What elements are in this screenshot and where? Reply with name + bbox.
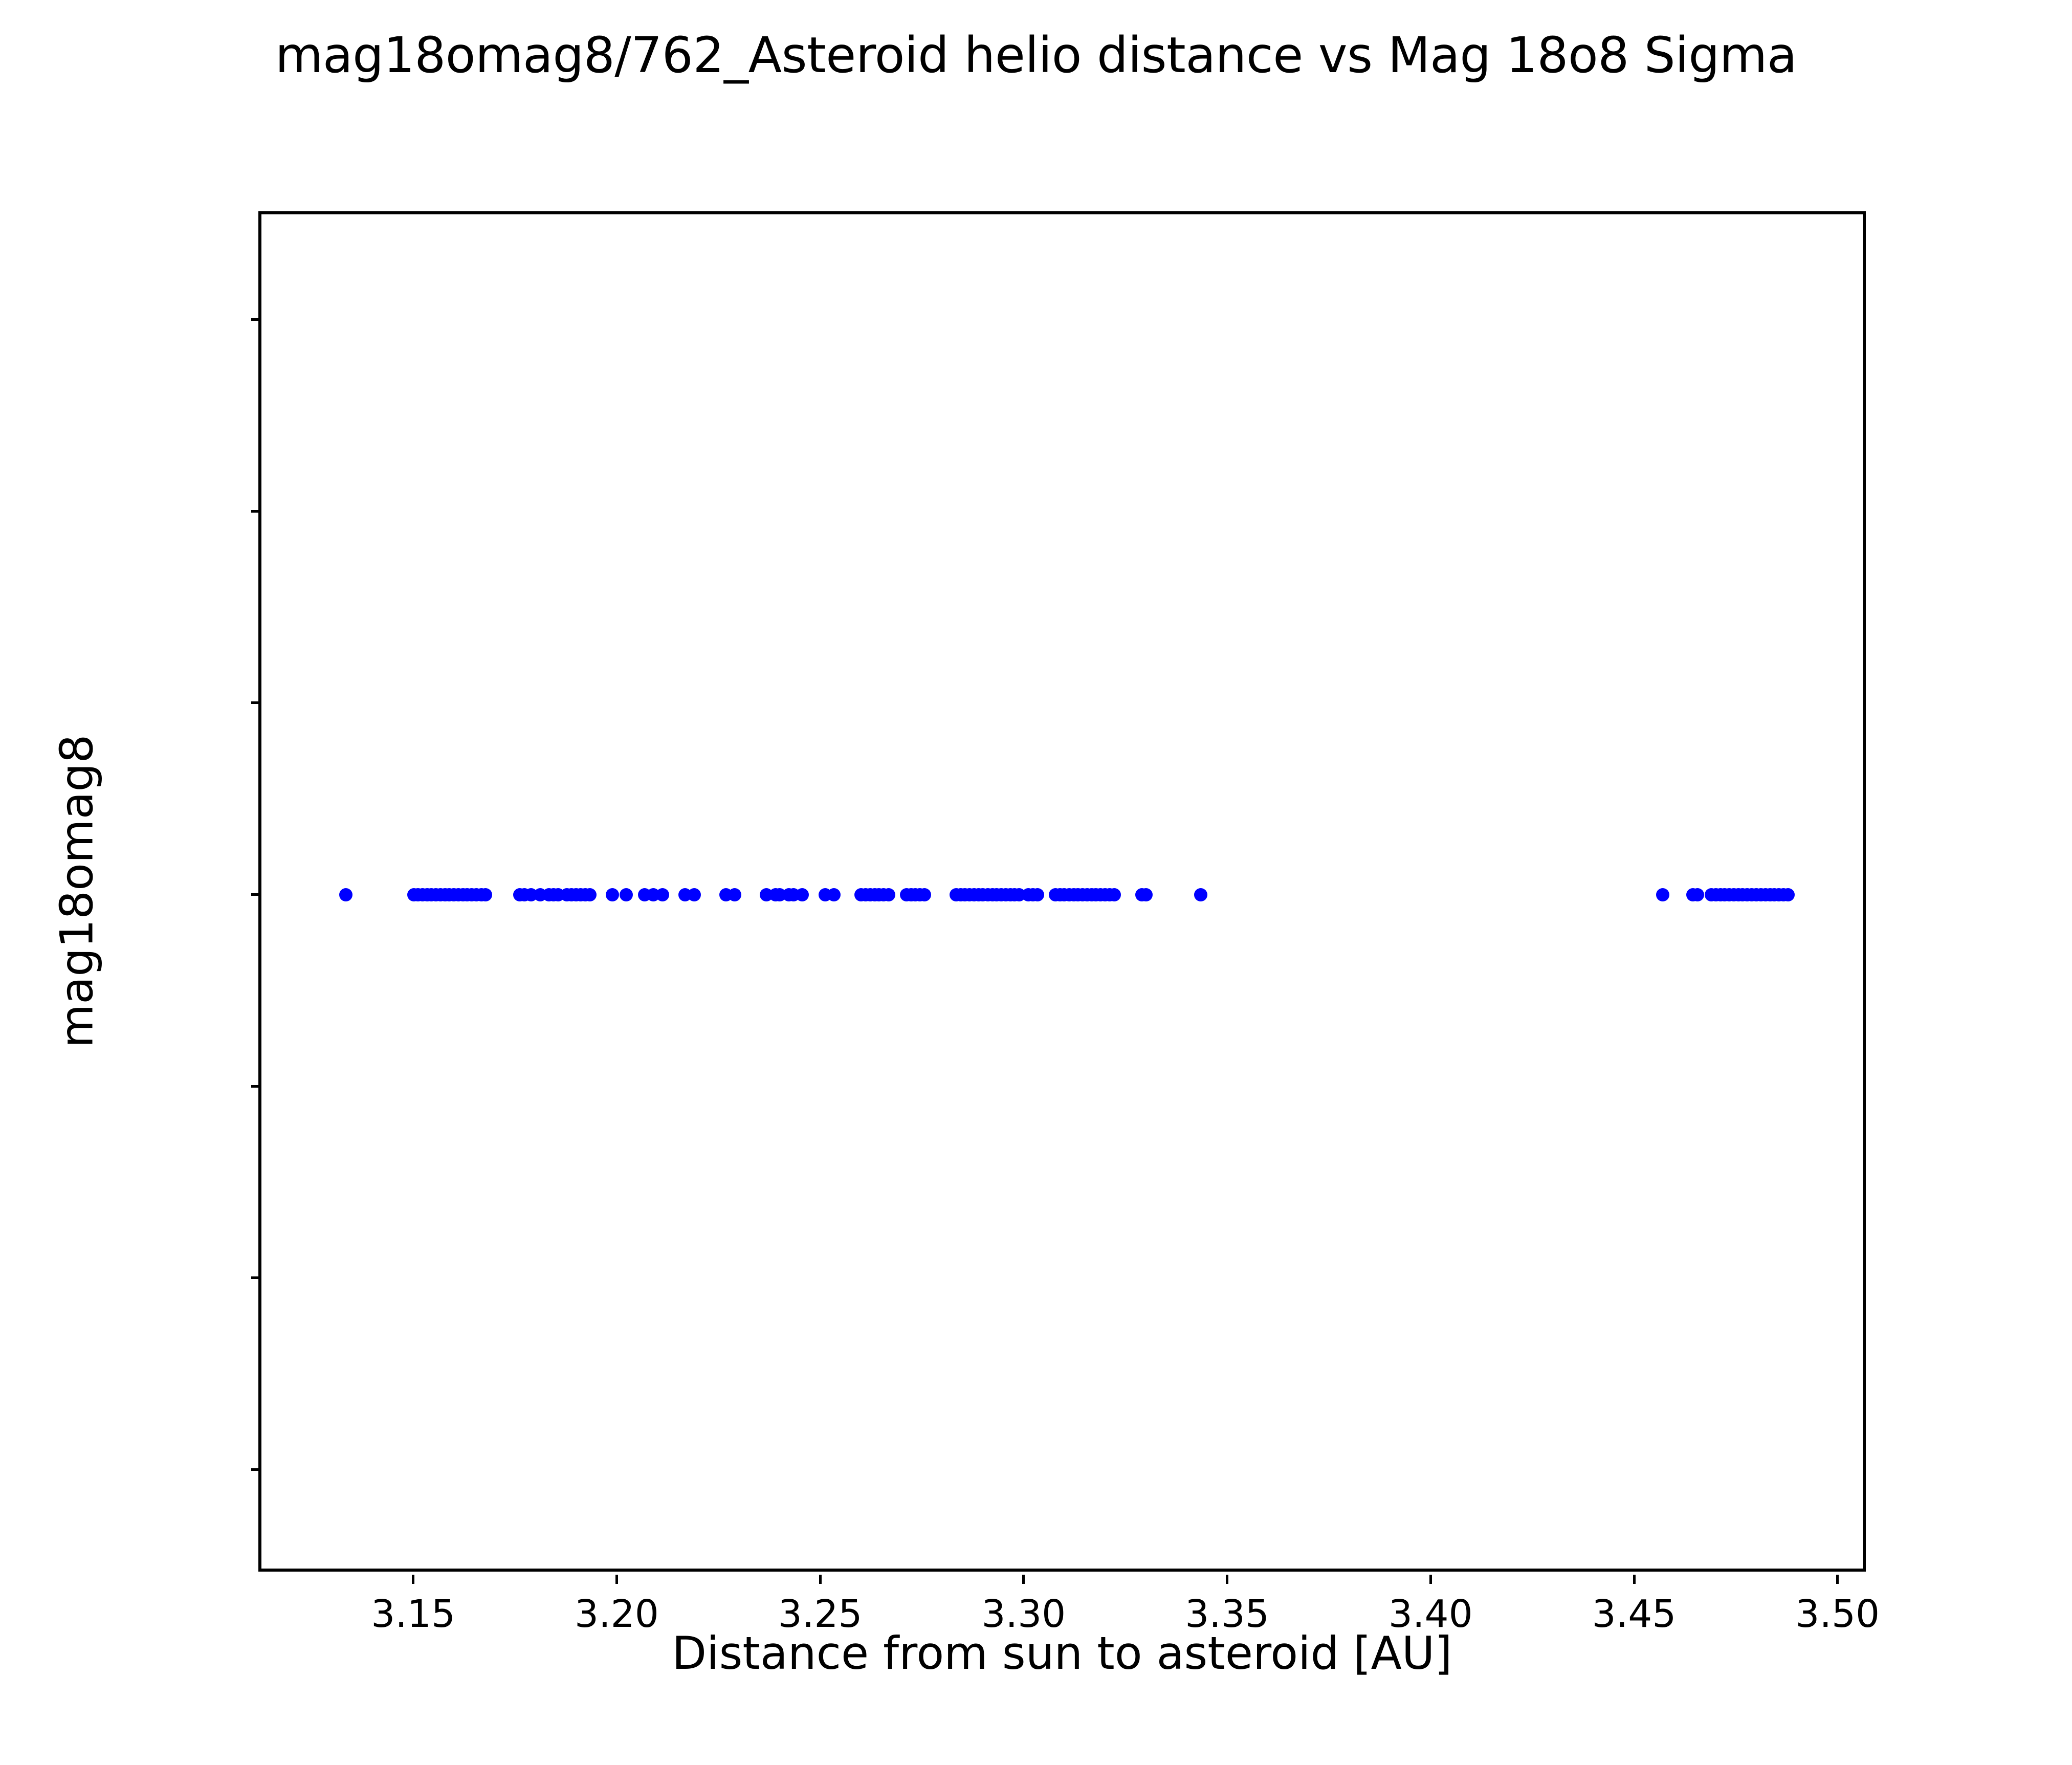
scatter-point bbox=[827, 888, 841, 901]
x-tick-mark bbox=[615, 1575, 618, 1584]
x-tick-mark bbox=[1633, 1575, 1636, 1584]
chart-title: mag18omag8/762_Asteroid helio distance v… bbox=[0, 27, 2072, 84]
scatter-point bbox=[1139, 888, 1153, 901]
x-tick-label: 3.30 bbox=[921, 1592, 1126, 1636]
y-tick-mark bbox=[251, 701, 260, 704]
x-tick-label: 3.15 bbox=[311, 1592, 516, 1636]
scatter-point bbox=[918, 888, 931, 901]
scatter-point bbox=[479, 888, 492, 901]
plot-area: 1.2971.2981.2991.3001.3011.3021.303 3.15… bbox=[258, 211, 1866, 1572]
scatter-point bbox=[796, 888, 809, 901]
scatter-point bbox=[339, 888, 352, 901]
x-tick-mark bbox=[1836, 1575, 1839, 1584]
x-tick-mark bbox=[819, 1575, 822, 1584]
scatter-point bbox=[620, 888, 633, 901]
x-tick-mark bbox=[1226, 1575, 1228, 1584]
scatter-point bbox=[1108, 888, 1121, 901]
y-tick-mark bbox=[251, 893, 260, 896]
scatter-point bbox=[606, 888, 619, 901]
x-tick-label: 3.45 bbox=[1532, 1592, 1736, 1636]
x-tick-mark bbox=[412, 1575, 414, 1584]
y-tick-mark bbox=[251, 510, 260, 513]
scatter-point bbox=[583, 888, 597, 901]
scatter-point bbox=[1194, 888, 1207, 901]
scatter-point bbox=[656, 888, 669, 901]
scatter-point bbox=[882, 888, 895, 901]
scatter-point bbox=[1031, 888, 1044, 901]
y-tick-mark bbox=[251, 1276, 260, 1279]
x-tick-label: 3.20 bbox=[514, 1592, 719, 1636]
scatter-point bbox=[1781, 888, 1795, 901]
x-tick-label: 3.25 bbox=[718, 1592, 922, 1636]
y-axis-label: mag18omag8 bbox=[51, 735, 103, 1048]
x-tick-mark bbox=[1022, 1575, 1025, 1584]
x-tick-mark bbox=[1429, 1575, 1432, 1584]
y-tick-mark bbox=[251, 1085, 260, 1088]
x-tick-label: 3.35 bbox=[1125, 1592, 1330, 1636]
scatter-point bbox=[1691, 888, 1704, 901]
scatter-point bbox=[728, 888, 741, 901]
figure-canvas: mag18omag8/762_Asteroid helio distance v… bbox=[0, 0, 2072, 1765]
x-tick-label: 3.40 bbox=[1328, 1592, 1533, 1636]
scatter-point bbox=[1656, 888, 1669, 901]
y-tick-mark bbox=[251, 318, 260, 321]
x-tick-label: 3.50 bbox=[1735, 1592, 1940, 1636]
scatter-series bbox=[261, 214, 1863, 1569]
scatter-point bbox=[688, 888, 701, 901]
y-tick-mark bbox=[251, 1468, 260, 1471]
